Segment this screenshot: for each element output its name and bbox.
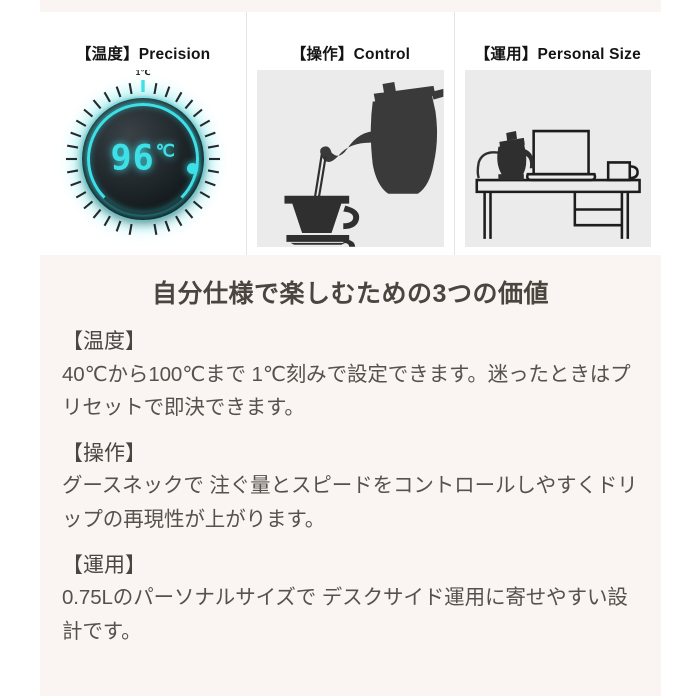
desk-setup-illustration	[465, 70, 651, 247]
section-heading-operation: 【運用】	[40, 550, 661, 582]
desk-art	[465, 70, 651, 247]
card-title-precision: 【温度】Precision	[40, 42, 246, 64]
section-body-operation: 0.75Lのパーソナルサイズで デスクサイド運用に寄せやすい設計です。	[40, 581, 661, 647]
section-temperature: 【温度】 40℃から100℃まで 1℃刻みで設定できます。迷ったときはプリセット…	[40, 326, 661, 424]
dial-temperature-unit: ℃	[156, 141, 176, 161]
feature-card-precision: 【温度】Precision	[40, 12, 246, 255]
feature-card-personal-size: 【運用】Personal Size	[454, 12, 661, 255]
dial: 96℃ 1℃ 1℃	[54, 70, 232, 247]
page-headline: 自分仕様で楽しむための3つの価値	[40, 274, 661, 310]
dial-temperature-readout: 96℃	[111, 141, 176, 176]
section-control: 【操作】 グースネックで 注ぐ量とスピードをコントロールしやすくドリップの再現性…	[40, 438, 661, 536]
kettle-pour-art	[257, 70, 443, 247]
dial-temperature-number: 96	[111, 138, 155, 178]
dial-tick-label-top: 1℃	[136, 70, 151, 78]
gooseneck-kettle-pour-illustration	[257, 70, 443, 247]
card-title-personal-size: 【運用】Personal Size	[455, 42, 661, 64]
value-sections: 【温度】 40℃から100℃まで 1℃刻みで設定できます。迷ったときはプリセット…	[40, 326, 661, 662]
section-body-temperature: 40℃から100℃まで 1℃刻みで設定できます。迷ったときはプリセットで即決でき…	[40, 358, 661, 424]
dial-knob-indicator[interactable]	[187, 163, 198, 174]
section-operation: 【運用】 0.75Lのパーソナルサイズで デスクサイド運用に寄せやすい設計です。	[40, 550, 661, 648]
section-body-control: グースネックで 注ぐ量とスピードをコントロールしやすくドリップの再現性が上がりま…	[40, 469, 661, 535]
feature-card-control: 【操作】Control	[246, 12, 453, 255]
page-container: 【温度】Precision	[40, 0, 661, 696]
temperature-dial-illustration: 96℃ 1℃ 1℃	[50, 70, 236, 247]
feature-card-row: 【温度】Precision	[40, 12, 661, 255]
card-title-control: 【操作】Control	[247, 42, 453, 64]
section-heading-temperature: 【温度】	[40, 326, 661, 358]
section-heading-control: 【操作】	[40, 438, 661, 470]
